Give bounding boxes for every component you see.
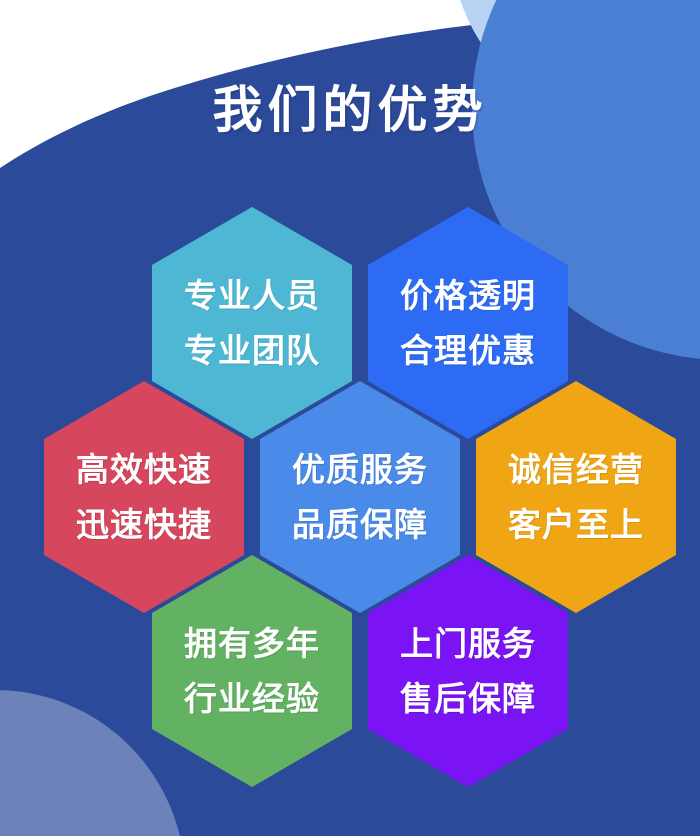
hex-line-2: 行业经验 <box>184 682 320 715</box>
hex-line-2: 专业团队 <box>184 334 320 367</box>
hex-line-2: 客户至上 <box>508 508 644 541</box>
hex-line-1: 专业人员 <box>184 279 320 312</box>
hex-line-1: 上门服务 <box>400 627 536 660</box>
hex-line-1: 优质服务 <box>292 453 428 486</box>
hex-line-1: 高效快速 <box>76 453 212 486</box>
hex-line-2: 售后保障 <box>400 682 536 715</box>
hex-line-2: 合理优惠 <box>400 334 536 367</box>
advantages-poster: 我们的优势 专业人员 专业团队 价格透明 合理优惠 高效快速 迅速快捷 优质服务… <box>0 0 700 836</box>
hex-line-1: 价格透明 <box>400 279 536 312</box>
hex-line-2: 迅速快捷 <box>76 508 212 541</box>
page-title: 我们的优势 <box>0 82 700 138</box>
hex-line-1: 诚信经营 <box>508 453 644 486</box>
hex-line-1: 拥有多年 <box>184 627 320 660</box>
hex-line-2: 品质保障 <box>292 508 428 541</box>
